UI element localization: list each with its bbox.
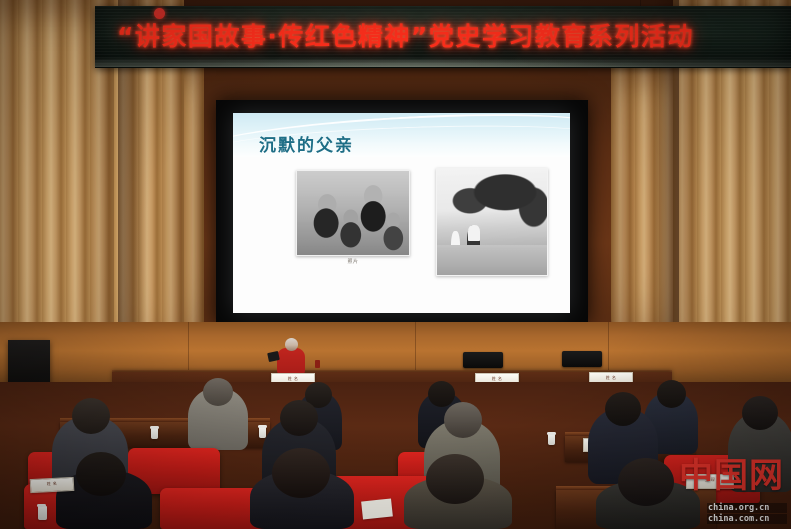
desk-cup (315, 360, 320, 368)
audience-person-head (444, 402, 482, 438)
lakeside-photo (436, 168, 548, 276)
family-portrait-photo (296, 170, 410, 256)
audience-person-head (742, 396, 778, 430)
audience-person-head (203, 378, 233, 406)
audience-person-head (76, 452, 126, 496)
tea-cup (259, 427, 266, 438)
audience-person-head (605, 392, 641, 426)
speaker-head (285, 338, 298, 351)
audience-nameplate-label: 姓 名 (31, 478, 73, 490)
audience-person-head (272, 448, 330, 498)
tea-cup (548, 434, 555, 445)
audience-nameplate-label: 王 琛 (687, 475, 733, 485)
audience-person-head (426, 454, 484, 504)
family-portrait-caption: 照片 (325, 258, 381, 265)
audience-person-head (657, 380, 686, 408)
lakeside-path (437, 245, 547, 275)
audience-person-head (72, 398, 110, 434)
audience-nameplate: 王 琛 (686, 474, 734, 489)
banner-bottom-lights (95, 53, 791, 67)
podium-monitor (562, 351, 602, 367)
handout-paper (361, 498, 393, 519)
audience-person-head (280, 400, 318, 436)
podium-monitor (463, 352, 503, 368)
led-banner: “讲家国故事·传红色精神”党史学习教育系列活动 (95, 6, 791, 68)
led-banner-text: “讲家国故事·传红色精神”党史学习教育系列活动 (117, 17, 777, 57)
tea-cup (38, 506, 47, 520)
audience-person-head (618, 458, 674, 506)
audience-nameplate: 姓 名 (30, 477, 75, 493)
slide-title: 沉默的父亲 (259, 131, 354, 156)
projection-screen: 沉默的父亲 照片 (233, 113, 570, 313)
speaker-presenter (277, 348, 305, 374)
lakeside-figure-right-top (468, 225, 480, 241)
tea-cup (151, 428, 158, 439)
audience-person-head (428, 381, 455, 407)
conference-hall-photo: “讲家国故事·传红色精神”党史学习教育系列活动 沉默的父亲 照片 (0, 0, 791, 529)
